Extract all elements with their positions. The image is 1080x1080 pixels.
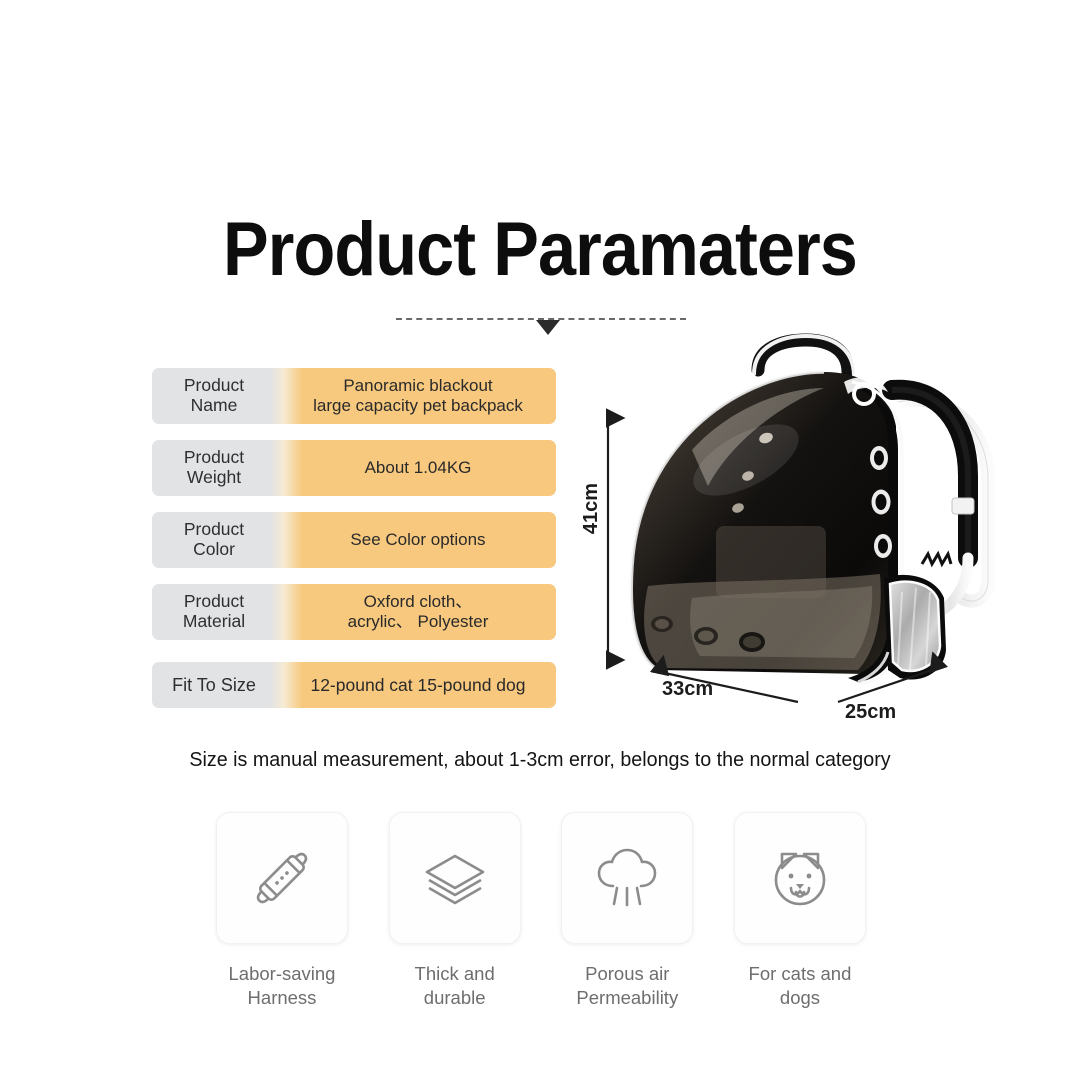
spec-value-product-color: See Color options [280, 512, 556, 568]
feature-label: Porous air Permeability [576, 962, 678, 1009]
feature-label: Labor-saving Harness [229, 962, 336, 1009]
feature-item-thick-and-durable: Thick and durable [384, 812, 526, 1009]
table-row: Product Weight About 1.04KG [152, 440, 556, 496]
table-row: Product Name Panoramic blackout large ca… [152, 368, 556, 424]
feature-item-labor-saving-harness: Labor-saving Harness [211, 812, 353, 1009]
spec-key-product-weight: Product Weight [152, 440, 280, 496]
table-row: Product Material Oxford cloth、 acrylic、 … [152, 584, 556, 640]
table-row: Product Color See Color options [152, 512, 556, 568]
feature-card [734, 812, 866, 944]
spec-value-fit-to-size: 12-pound cat 15-pound dog [280, 662, 556, 708]
table-row: Fit To Size 12-pound cat 15-pound dog [152, 662, 556, 708]
feature-card [561, 812, 693, 944]
spec-key-product-color: Product Color [152, 512, 280, 568]
spec-key-product-material: Product Material [152, 584, 280, 640]
spec-value-product-weight: About 1.04KG [280, 440, 556, 496]
harness-strap-icon [244, 840, 320, 916]
measurement-disclaimer: Size is manual measurement, about 1-3cm … [22, 748, 1059, 772]
dimension-arrows [560, 330, 980, 730]
feature-item-porous-air-permeability: Porous air Permeability [556, 812, 698, 1009]
spec-table: Product Name Panoramic blackout large ca… [152, 368, 556, 708]
spec-key-product-name: Product Name [152, 368, 280, 424]
stacked-layers-icon [417, 840, 493, 916]
feature-card [389, 812, 521, 944]
dimension-width-label: 33cm [662, 678, 713, 701]
down-triangle-icon [536, 320, 560, 335]
spec-value-product-name: Panoramic blackout large capacity pet ba… [280, 368, 556, 424]
feature-label: For cats and dogs [729, 962, 871, 1009]
feature-card [216, 812, 348, 944]
page-title: Product Paramaters [54, 206, 1026, 293]
feature-item-for-cats-and-dogs: For cats and dogs [729, 812, 871, 1009]
feature-label: Thick and durable [384, 962, 526, 1009]
dimension-height-label: 41cm [580, 483, 603, 534]
dimension-depth-label: 25cm [845, 701, 896, 724]
pet-face-icon [762, 840, 838, 916]
spec-value-product-material: Oxford cloth、 acrylic、 Polyester [280, 584, 556, 640]
air-cloud-icon [589, 840, 665, 916]
feature-list: Labor-saving Harness Thick and durable [211, 812, 871, 1009]
spec-key-fit-to-size: Fit To Size [152, 662, 280, 708]
